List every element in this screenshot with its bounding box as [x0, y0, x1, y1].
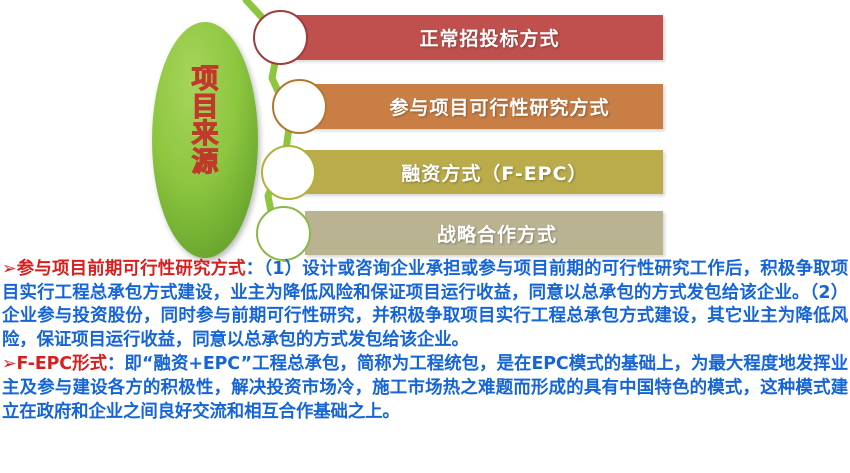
flow-bar-label: 融资方式（F-EPC）: [401, 159, 587, 186]
flow-bar-strategic-cooperation[interactable]: 战略合作方式: [305, 211, 663, 255]
project-source-label: 项 目 来 源: [152, 66, 258, 176]
flow-bar-label: 参与项目可行性研究方式: [389, 93, 609, 120]
bullet-arrow-icon: ➢: [2, 259, 16, 279]
source-char-0: 项: [152, 66, 258, 94]
paragraph-heading: 参与项目前期可行性研究方式: [16, 259, 245, 279]
flow-bar-label: 正常招投标方式: [419, 24, 559, 51]
paragraph-fepc: ➢F-EPC形式：即“融资+EPC”工程总承包，简称为工程统包，是在EPC模式的…: [2, 353, 848, 424]
flow-bar-label: 战略合作方式: [437, 220, 557, 247]
project-source-diagram: 项 目 来 源 正常招投标方式 参与项目可行性研究方式 融资方式（F-EPC） …: [0, 0, 850, 262]
flow-bar-normal-bidding[interactable]: 正常招投标方式: [290, 15, 663, 60]
paragraph-separator: ：: [107, 354, 124, 374]
description-text-block: ➢参与项目前期可行性研究方式：（1）设计或咨询企业承担或参与项目前期的可行性研究…: [0, 258, 850, 473]
flow-node-circle-2[interactable]: [272, 79, 327, 134]
flow-bar-financing-fepc[interactable]: 融资方式（F-EPC）: [300, 150, 663, 194]
source-char-1: 目: [152, 94, 258, 122]
source-char-3: 源: [152, 149, 258, 177]
flow-node-circle-3[interactable]: [261, 145, 316, 200]
flow-bar-feasibility-study[interactable]: 参与项目可行性研究方式: [310, 84, 663, 129]
paragraph-feasibility-study: ➢参与项目前期可行性研究方式：（1）设计或咨询企业承担或参与项目前期的可行性研究…: [2, 258, 848, 352]
source-char-2: 来: [152, 121, 258, 149]
slide-canvas: 项 目 来 源 正常招投标方式 参与项目可行性研究方式 融资方式（F-EPC） …: [0, 0, 850, 473]
flow-node-circle-1[interactable]: [253, 10, 308, 65]
paragraph-heading: F-EPC形式: [16, 354, 107, 374]
bullet-arrow-icon: ➢: [2, 354, 16, 374]
flow-node-circle-4[interactable]: [256, 206, 311, 261]
paragraph-separator: ：: [246, 259, 264, 279]
paragraph-body: 即“融资+EPC”工程总承包，简称为工程统包，是在EPC模式的基础上，为最大程度…: [2, 354, 848, 421]
